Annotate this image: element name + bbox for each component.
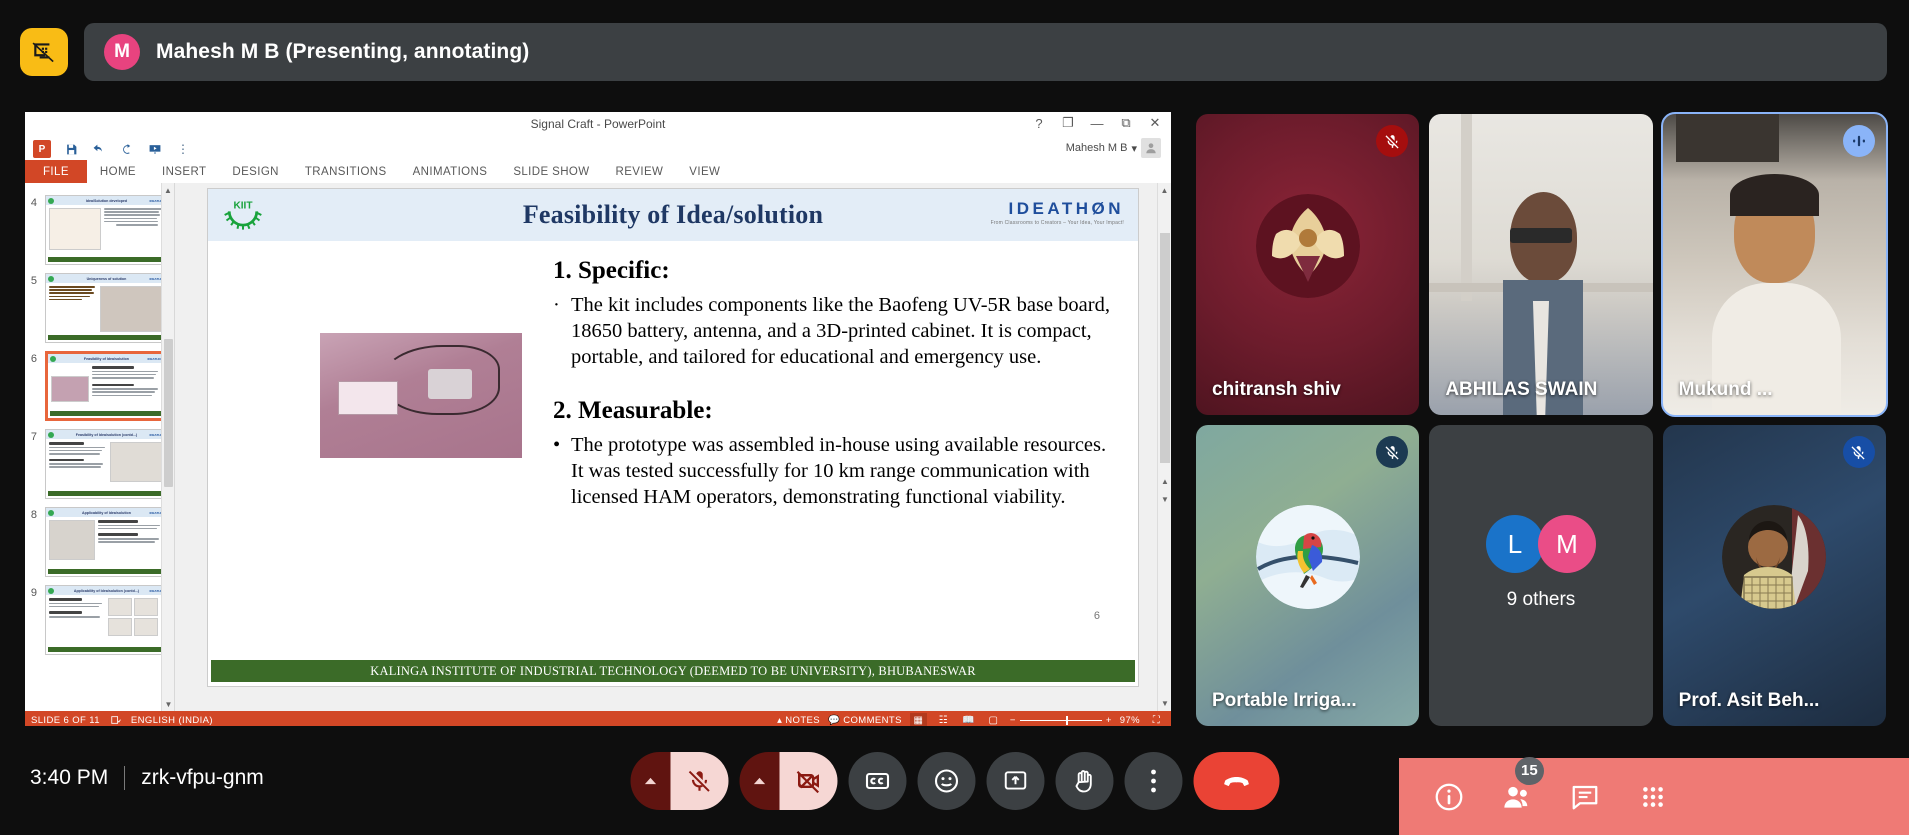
people-icon [1501,781,1533,813]
thumb-preview: Feasibility of Idea/solution (contd...)I… [45,429,168,499]
quick-access-toolbar[interactable]: P ⋮ [25,138,1171,160]
thumb-preview-selected: Feasibility of Idea/solutionIDEATHON [45,351,168,421]
end-call-icon [1220,765,1252,797]
thumb-title: Applicability of Idea/solution (contd...… [74,589,139,593]
present-screen-icon [1002,768,1028,794]
section-heading-measurable: 2. Measurable: [553,397,1123,425]
thumbnail-slide-8[interactable]: 8 Applicability of Idea/solutionIDEATHON [25,503,174,581]
spelling-icon[interactable] [110,715,121,725]
thumb-title: Feasibility of Idea/solution [84,357,129,361]
active-speaker-audio-icon [1843,125,1875,157]
next-slide-icon[interactable]: ▼ [1160,493,1170,505]
more-options-button[interactable] [1124,752,1182,810]
notes-button[interactable]: ▴ NOTES [777,715,820,726]
redo-icon[interactable] [119,141,135,157]
thumb-number: 5 [27,273,41,287]
emoji-smiley-icon [932,767,960,795]
slide-counter[interactable]: SLIDE 6 OF 11 [31,715,100,726]
language-indicator[interactable]: ENGLISH (INDIA) [131,715,213,726]
apps-grid-icon [1640,784,1666,810]
scroll-down-icon[interactable]: ▼ [1158,696,1171,711]
captions-button[interactable] [848,752,906,810]
mic-off-icon [1843,436,1875,468]
mic-off-icon [1376,436,1408,468]
thumb-preview: Applicability of Idea/solution (contd...… [45,585,168,655]
chevron-down-icon: ▾ [1131,142,1137,155]
emoji-button[interactable] [917,752,975,810]
thumb-number: 6 [27,351,41,365]
ideathon-logo: IDEATHØN From Classrooms to Creators – Y… [991,199,1124,226]
kiit-logo-icon [48,432,54,438]
meeting-info: 3:40 PM zrk-vfpu-gnm [30,766,264,790]
slide-page-number: 6 [1094,610,1100,622]
zoom-out-button[interactable]: − [1010,715,1016,726]
bullet-dot-icon: • [553,433,563,510]
primary-controls [630,752,1279,810]
account-avatar-icon [1141,138,1161,158]
mic-off-icon[interactable] [670,752,728,810]
thumb-number: 8 [27,507,41,521]
start-slideshow-icon[interactable] [147,141,163,157]
slide-footer-banner: KALINGA INSTITUTE OF INDUSTRIAL TECHNOLO… [211,660,1135,682]
thumbnail-slide-7[interactable]: 7 Feasibility of Idea/solution (contd...… [25,425,174,503]
scrollbar-thumb[interactable] [164,339,173,487]
window-controls: ? ❐ — ⧉ ✕ [1031,115,1163,131]
more-vertical-icon [1150,768,1156,794]
avatar-m: M [1538,515,1596,573]
meeting-details-button[interactable] [1425,773,1473,821]
slide-sorter-view-button[interactable]: ☷ [935,713,952,726]
help-icon[interactable]: ? [1031,116,1047,131]
avatar-l: L [1486,515,1544,573]
status-left: SLIDE 6 OF 11 ENGLISH (INDIA) [31,715,213,726]
prototype-photo [320,333,522,458]
save-icon[interactable] [63,141,79,157]
zoom-track[interactable] [1020,720,1102,721]
slide-footer-text: KALINGA INSTITUTE OF INDUSTRIAL TECHNOLO… [370,664,976,679]
comments-button[interactable]: 💬 COMMENTS [828,715,902,726]
slide-thumbnail-pane[interactable]: 4 Idea/Solution developedIDEATHON 5 Uniq… [25,183,175,711]
zoom-in-button[interactable]: + [1106,715,1112,726]
close-icon[interactable]: ✕ [1147,115,1163,131]
ribbon-display-options-icon[interactable]: ❐ [1060,115,1076,131]
kiit-logo-icon [48,588,54,594]
ppt-workspace: 4 Idea/Solution developedIDEATHON 5 Uniq… [25,183,1171,711]
bullet-specific: · The kit includes components like the B… [553,293,1123,370]
ribbon-tab-slide-show[interactable]: SLIDE SHOW [500,160,602,183]
minimize-icon[interactable]: — [1089,116,1105,131]
ppt-document-title: Signal Craft - PowerPoint [25,117,1171,131]
participant-tile-prof-asit[interactable]: Prof. Asit Beh... [1663,425,1886,726]
video-feed [1663,114,1886,415]
meeting-control-bar: 3:40 PM zrk-vfpu-gnm [0,730,1909,835]
present-button[interactable] [986,752,1044,810]
participant-tile-abhilas-swain[interactable]: ABHILAS SWAIN [1429,114,1652,415]
notes-icon: ▴ [777,715,782,726]
slide-editing-stage[interactable]: KIIT Feasibility of Idea/solution IDEATH… [175,183,1171,711]
thumb-title: Uniqueness of solution [87,277,127,281]
undo-icon[interactable] [91,141,107,157]
google-meet-window: M Mahesh M B (Presenting, annotating) Si… [0,0,1909,835]
presenter-label: Mahesh M B (Presenting, annotating) [156,40,529,64]
ideathon-tagline: From Classrooms to Creators – Your Idea,… [991,220,1124,226]
participant-tile-others[interactable]: L M 9 others [1429,425,1652,726]
participant-name: Prof. Asit Beh... [1679,690,1820,712]
reading-view-button[interactable]: 📖 [960,713,977,726]
thumb-title: Applicability of Idea/solution [82,511,131,515]
kiit-logo-icon [48,510,54,516]
status-right: ▴ NOTES 💬 COMMENTS ▦ ☷ 📖 ▢ − + 97% ⛶ [777,713,1165,726]
thumb-title: Feasibility of Idea/solution (contd...) [76,433,137,437]
shared-screen-powerpoint[interactable]: Signal Craft - PowerPoint ? ❐ — ⧉ ✕ Mahe… [25,112,1171,726]
ribbon-tab-home[interactable]: HOME [87,160,149,183]
raise-hand-button[interactable] [1055,752,1113,810]
camera-off-button[interactable] [739,752,837,810]
comment-icon: 💬 [828,715,840,726]
thumbnail-slide-6[interactable]: 6 Feasibility of Idea/solutionIDEATHON [25,347,174,425]
radio-device-shape [428,369,472,399]
thumb-preview: Uniqueness of solutionIDEATHON [45,273,168,343]
slide-body-text: 1. Specific: · The kit includes componen… [553,257,1123,513]
powerpoint-app-icon: P [33,140,51,158]
others-count-label: 9 others [1486,589,1596,611]
ribbon-tab-insert[interactable]: INSERT [149,160,219,183]
thumb-preview: Applicability of Idea/solutionIDEATHON [45,507,168,577]
current-slide[interactable]: KIIT Feasibility of Idea/solution IDEATH… [208,189,1138,686]
thumb-pane-top [25,183,174,191]
thumb-number: 9 [27,585,41,599]
slideshow-view-button[interactable]: ▢ [985,713,1002,726]
microphone-off-button[interactable] [630,752,728,810]
ribbon-tab-animations[interactable]: ANIMATIONS [400,160,501,183]
avatar [1722,505,1826,609]
ribbon-tabs[interactable]: FILE HOME INSERT DESIGN TRANSITIONS ANIM… [25,160,1171,183]
section-heading-specific: 1. Specific: [553,257,1123,285]
ribbon-tab-file[interactable]: FILE [25,160,87,183]
ribbon-tab-transitions[interactable]: TRANSITIONS [292,160,400,183]
bullet-measurable: • The prototype was assembled in-house u… [553,433,1123,510]
microphone-options-chevron-icon[interactable] [630,752,670,810]
avatar: M [104,34,140,70]
participant-name: chitransh shiv [1212,379,1341,401]
chat-button[interactable] [1561,773,1609,821]
previous-slide-icon[interactable]: ▲ [1160,475,1170,487]
others-group: L M 9 others [1486,515,1596,611]
people-button[interactable]: 15 [1493,773,1541,821]
thumbnail-slide-9[interactable]: 9 Applicability of Idea/solution (contd.… [25,581,174,659]
avatar [1256,505,1360,609]
battery-box-shape [338,381,398,415]
participant-name: ABHILAS SWAIN [1445,379,1597,401]
account-name: Mahesh M B [1066,142,1128,154]
fit-slide-to-window-icon[interactable]: ⛶ [1148,713,1165,726]
kiit-logo-icon [48,276,54,282]
thumbnail-scrollbar[interactable]: ▲ ▼ [161,183,174,711]
zoom-level-label[interactable]: 97% [1120,715,1140,726]
ribbon-tab-view[interactable]: VIEW [676,160,733,183]
activities-button[interactable] [1629,773,1677,821]
camera-off-icon[interactable] [779,752,837,810]
scroll-down-icon[interactable]: ▼ [162,697,175,711]
top-presenting-bar: M Mahesh M B (Presenting, annotating) [0,0,1909,104]
screen-share-off-icon[interactable] [20,28,68,76]
thumb-preview: Idea/Solution developedIDEATHON [45,195,168,265]
zoom-handle[interactable] [1066,716,1068,725]
kiit-logo-icon [50,356,56,362]
avatar [1256,194,1360,298]
scroll-up-icon[interactable]: ▲ [1158,183,1171,198]
ribbon-tab-review[interactable]: REVIEW [603,160,677,183]
thumbnail-slide-4[interactable]: 4 Idea/Solution developedIDEATHON [25,191,174,269]
restore-icon[interactable]: ⧉ [1118,115,1134,131]
participant-name: Portable Irriga... [1212,690,1357,712]
customize-toolbar-icon[interactable]: ⋮ [175,141,191,157]
divider [124,766,125,790]
info-icon [1433,781,1465,813]
slide-header: KIIT Feasibility of Idea/solution IDEATH… [208,189,1138,241]
slide-content: 1. Specific: · The kit includes componen… [208,241,1138,654]
zoom-slider[interactable]: − + [1010,715,1112,726]
ideathon-wordmark: IDEATHØN [991,199,1124,219]
presenter-status-pill[interactable]: M Mahesh M B (Presenting, annotating) [84,23,1887,81]
notes-label: NOTES [785,715,820,726]
bullet-text: The kit includes components like the Bao… [571,293,1123,370]
thumb-number: 4 [27,195,41,209]
ribbon-tab-design[interactable]: DESIGN [219,160,292,183]
thumb-number: 7 [27,429,41,443]
participant-tile-chitransh-shiv[interactable]: chitransh shiv [1196,114,1419,415]
participant-tile-mukund[interactable]: Mukund ... [1663,114,1886,415]
raise-hand-icon [1070,767,1098,795]
svg-text:KIIT: KIIT [233,201,253,212]
thumb-title: Idea/Solution developed [86,199,127,203]
others-avatars: L M [1486,515,1596,573]
right-side-controls-panel: 15 [1399,758,1909,835]
normal-view-button[interactable]: ▦ [910,713,927,726]
participant-count-badge: 15 [1515,757,1544,785]
scroll-up-icon[interactable]: ▲ [162,183,174,197]
account-indicator[interactable]: Mahesh M B ▾ [1066,138,1161,158]
meeting-code[interactable]: zrk-vfpu-gnm [141,766,264,790]
participant-tile-portable-irrigation[interactable]: Portable Irriga... [1196,425,1419,726]
participant-name: Mukund ... [1679,379,1773,401]
end-call-button[interactable] [1193,752,1279,810]
video-feed [1429,114,1652,415]
comments-label: COMMENTS [843,715,902,726]
camera-options-chevron-icon[interactable] [739,752,779,810]
slide-scrollbar[interactable]: ▲ ▲ ▼ ▼ [1157,183,1171,711]
bullet-text: The prototype was assembled in-house usi… [571,433,1123,510]
bullet-dot-icon: · [553,293,563,370]
ppt-title-bar: Signal Craft - PowerPoint ? ❐ — ⧉ ✕ Mahe… [25,112,1171,138]
mic-off-icon [1376,125,1408,157]
meeting-time: 3:40 PM [30,766,108,790]
kiit-logo-icon [48,198,54,204]
kiit-logo-icon: KIIT [220,192,266,238]
closed-captions-icon [863,767,891,795]
chat-icon [1570,782,1600,812]
scrollbar-thumb[interactable] [1160,233,1170,463]
participant-grid: chitransh shiv ABHILAS SWAIN [1196,114,1886,726]
thumbnail-slide-5[interactable]: 5 Uniqueness of solutionIDEATHON [25,269,174,347]
ppt-status-bar[interactable]: SLIDE 6 OF 11 ENGLISH (INDIA) ▴ NOTES 💬 … [25,711,1171,726]
